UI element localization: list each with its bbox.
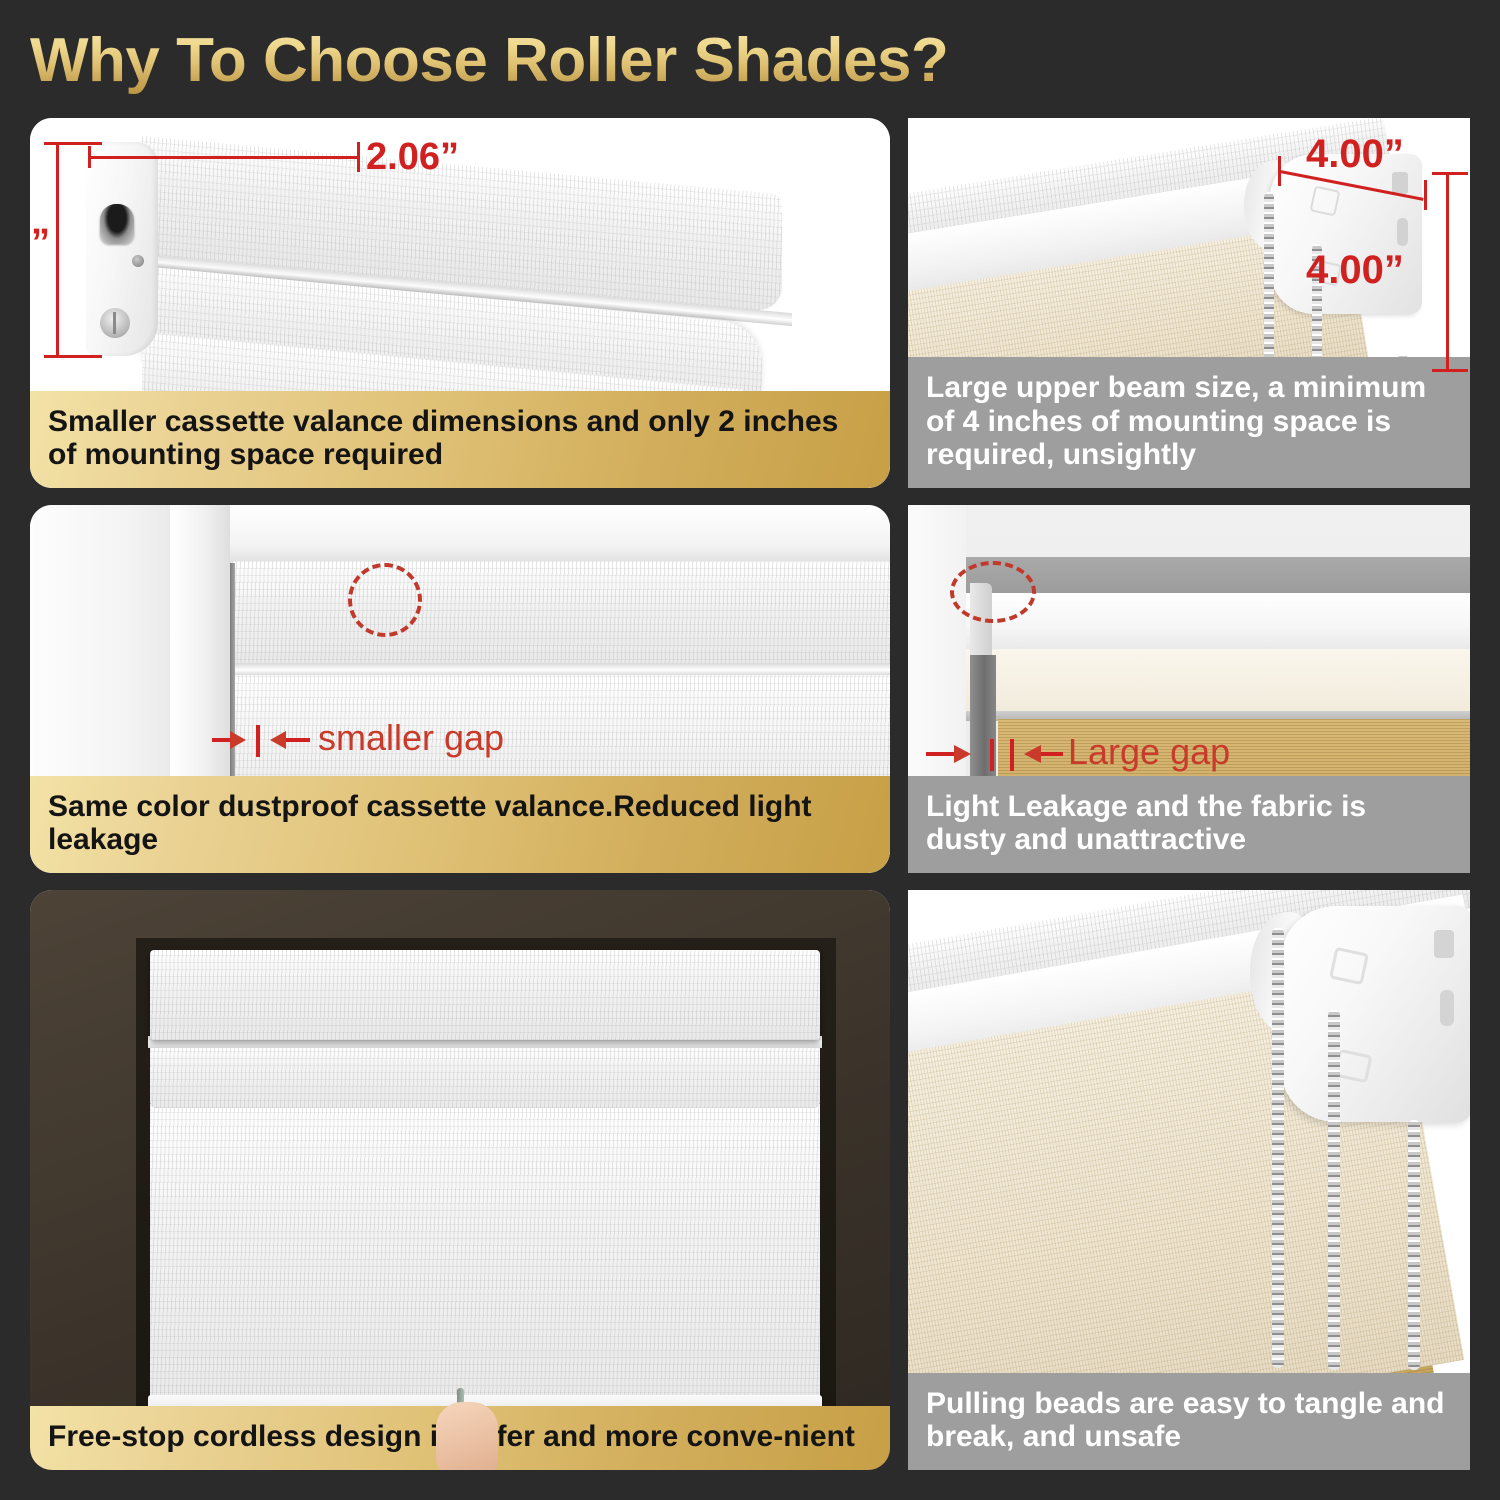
bracket-slot-lower (1440, 990, 1454, 1026)
endcap-screw-lower (100, 308, 130, 338)
comparison-grid: 2.06” 5.49” Smaller cassette valance dim… (0, 0, 1500, 1500)
panel-6-caption: Pulling beads are easy to tangle and bre… (908, 1373, 1470, 1470)
bead-chain-middle (1328, 1010, 1340, 1370)
hand-gripping-shade (436, 1402, 498, 1470)
endcap-knob (100, 204, 134, 244)
gap-arrow-right-head (1024, 745, 1041, 763)
bracket-emboss-upper (1310, 186, 1341, 217)
panel-3-caption: Same color dustproof cassette valance.Re… (30, 776, 890, 873)
panel-5-image (30, 890, 890, 1470)
panel-large-gap: Large gap Light Leakage and the fabric i… (908, 505, 1470, 873)
panel-large-upper-beam: 4.00” 4.00” Large upper beam size, a min… (908, 118, 1470, 488)
width-dimension-label: 2.06” (366, 136, 459, 179)
bracket-slot-lower (1397, 218, 1408, 246)
height-dimension-label: 5.49” (30, 222, 50, 265)
panel-pulling-beads: Pulling beads are easy to tangle and bre… (908, 890, 1470, 1470)
beam-height-dim-line (1446, 172, 1449, 372)
cassette-valance (232, 561, 890, 667)
width-dim-tick-right (357, 142, 360, 172)
highlight-circle (348, 563, 422, 637)
endcap-screw-upper (132, 255, 144, 267)
cassette-valance (150, 950, 820, 1040)
panel-1-caption: Smaller cassette valance dimensions and … (30, 391, 890, 488)
beam-height-tick-top (1432, 172, 1468, 175)
mounting-bracket (1280, 906, 1470, 1122)
panel-cordless-design: Free-stop cordless design is safer and m… (30, 890, 890, 1470)
cream-fabric-band (966, 649, 1470, 715)
gap-arrow-left-head (230, 731, 246, 749)
large-gap-label: Large gap (1068, 731, 1230, 773)
shade-fabric (150, 1104, 820, 1414)
gap-arrow-left-shaft (926, 752, 954, 756)
gap-tick-b (1010, 739, 1014, 771)
bracket-emboss-upper (1329, 947, 1369, 985)
cassette-endcap (86, 142, 158, 356)
roller-section (150, 1046, 820, 1108)
height-dim-tick-bottom (44, 355, 102, 358)
height-dim-line (56, 142, 59, 358)
roller-tube (966, 593, 1470, 655)
bead-chain-left (1272, 928, 1284, 1368)
panel-2-caption: Large upper beam size, a minimum of 4 in… (908, 357, 1470, 488)
panel-smaller-cassette: 2.06” 5.49” Smaller cassette valance dim… (30, 118, 890, 488)
window-frame-top (170, 505, 890, 563)
gap-tick-a (990, 739, 994, 771)
bead-chain-right (1408, 1120, 1420, 1370)
width-dim-line (88, 156, 360, 159)
beam-height-label: 4.00” (1306, 248, 1404, 293)
gap-arrow-right-head (270, 731, 286, 749)
beam-width-tick-left (1278, 156, 1281, 186)
gap-arrow-left-head (954, 745, 971, 763)
highlight-circle (950, 561, 1036, 623)
height-dim-tick-top (44, 142, 102, 145)
gap-arrow-right-shaft (1041, 752, 1063, 756)
smaller-gap-label: smaller gap (318, 717, 504, 759)
ceiling-shadow (966, 557, 1470, 597)
gap-arrow-right-shaft (286, 738, 310, 742)
beam-width-label: 4.00” (1306, 132, 1404, 177)
bracket-slot-upper (1434, 930, 1454, 958)
width-dim-tick-left (88, 146, 91, 168)
beam-height-tick-bottom (1432, 369, 1468, 372)
panel-smaller-gap: smaller gap Same color dustproof cassett… (30, 505, 890, 873)
gap-tick (256, 725, 260, 757)
beam-width-tick-right (1424, 180, 1427, 210)
panel-4-caption: Light Leakage and the fabric is dusty an… (908, 776, 1470, 873)
